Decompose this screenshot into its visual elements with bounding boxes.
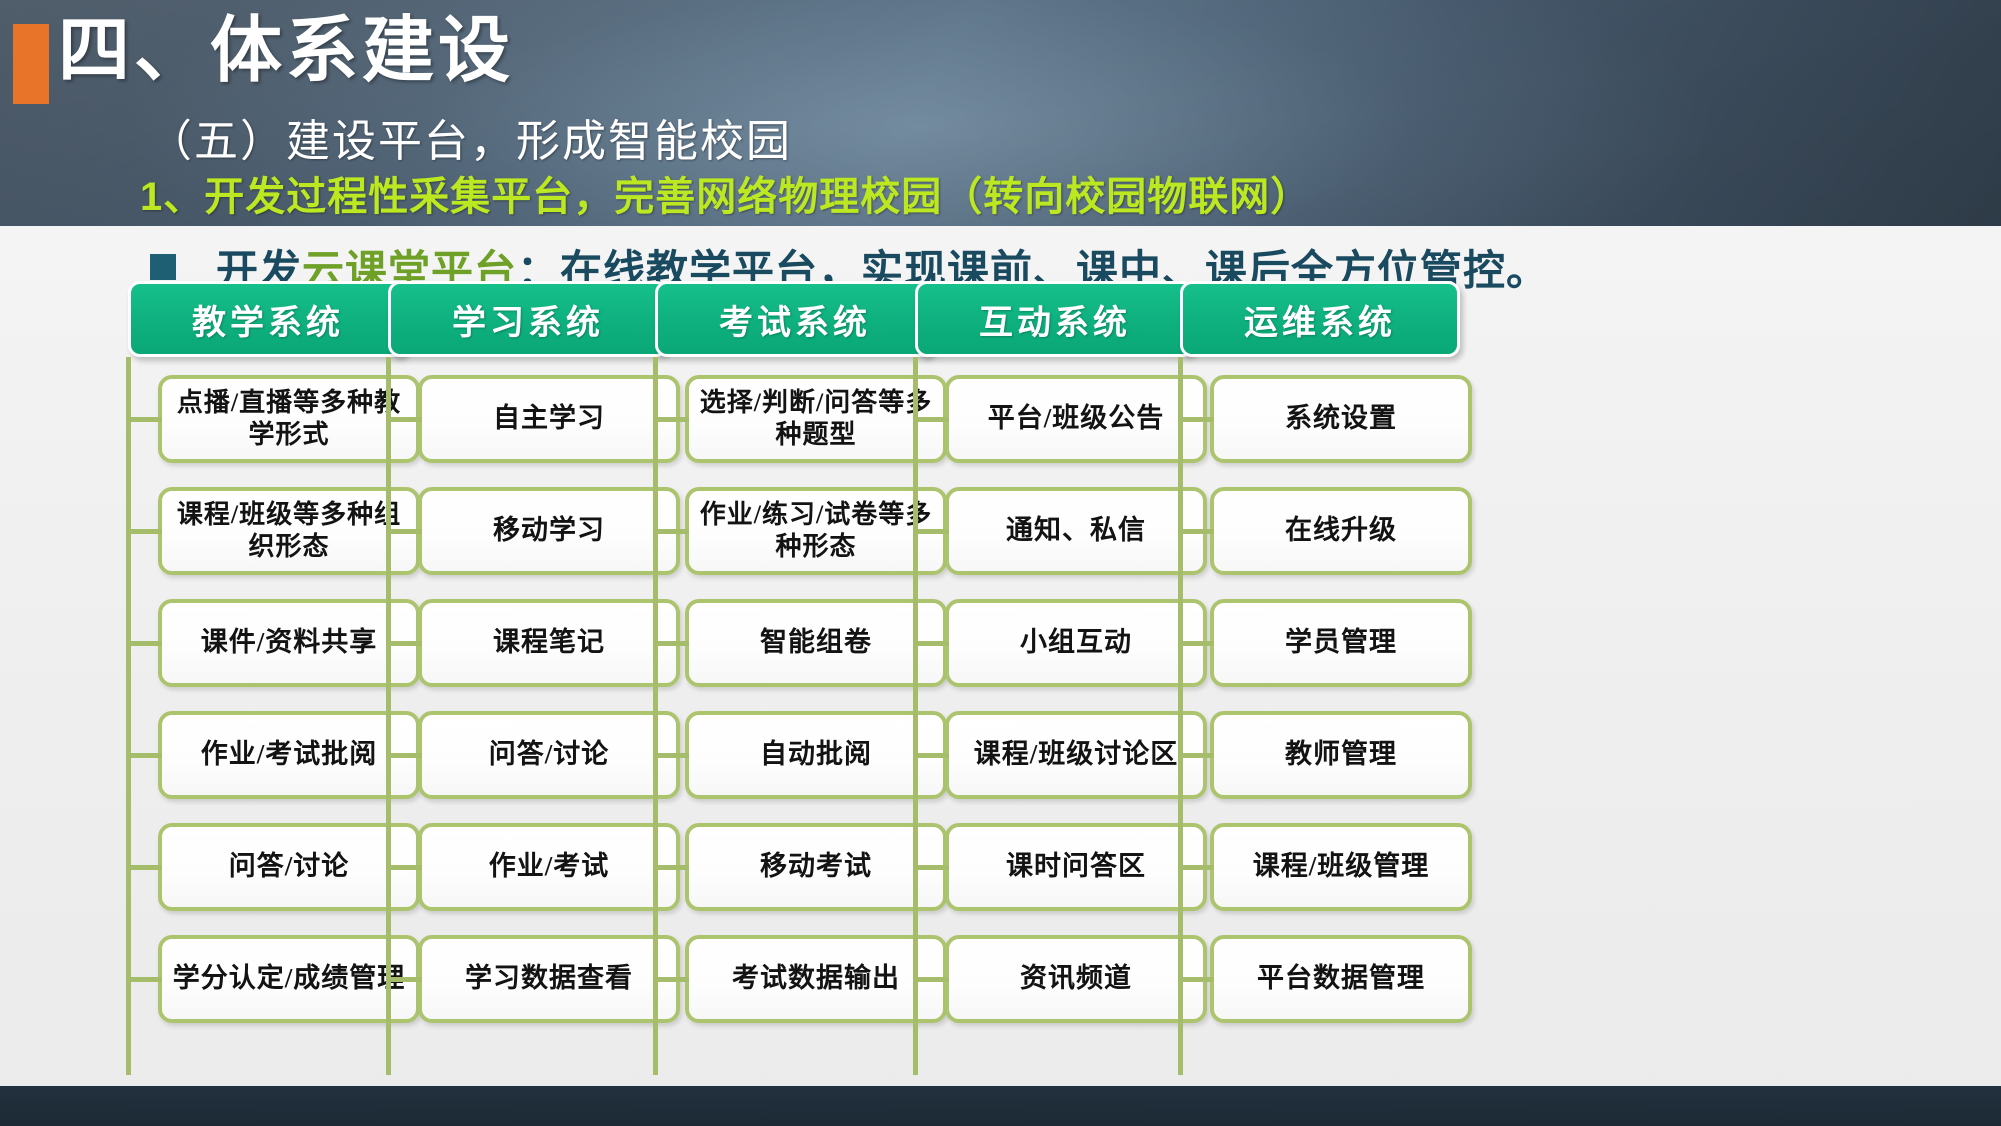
connector-trunk <box>1178 357 1183 1075</box>
column-interaction-system: 互动系统 平台/班级公告 通知、私信 小组互动 课程/班级讨论区 课时问答区 资… <box>905 281 1205 1047</box>
item-label: 作业/考试 <box>483 850 616 884</box>
list-item[interactable]: 小组互动 <box>945 599 1207 687</box>
list-item[interactable]: 教师管理 <box>1210 711 1472 799</box>
list-item[interactable]: 课程/班级讨论区 <box>945 711 1207 799</box>
item-label: 通知、私信 <box>1000 514 1152 548</box>
list-item[interactable]: 在线升级 <box>1210 487 1472 575</box>
item-label: 问答/讨论 <box>223 850 356 884</box>
item-label: 课程笔记 <box>487 626 611 660</box>
item-label: 自动批阅 <box>754 738 878 772</box>
page-point-line: 1、开发过程性采集平台，完善网络物理校园（转向校园物联网） <box>140 164 1311 222</box>
item-label: 移动学习 <box>487 514 611 548</box>
list-item[interactable]: 问答/讨论 <box>418 711 680 799</box>
item-label: 系统设置 <box>1279 402 1403 436</box>
item-label: 智能组卷 <box>754 626 878 660</box>
item-label: 小组互动 <box>1014 626 1138 660</box>
item-label: 作业/考试批阅 <box>195 738 384 772</box>
connector-trunk <box>386 357 391 1075</box>
item-label: 课件/资料共享 <box>195 626 384 660</box>
item-label: 在线升级 <box>1279 514 1403 548</box>
page-title: 四、体系建设 <box>58 15 514 87</box>
item-label: 学习数据查看 <box>459 962 639 996</box>
slide-header: 四、体系建设 （五）建设平台，形成智能校园 1、开发过程性采集平台，完善网络物理… <box>0 0 2001 226</box>
item-label: 平台/班级公告 <box>982 402 1171 436</box>
orange-accent-bar <box>13 24 49 104</box>
column-header-box[interactable]: 学习系统 <box>388 281 668 357</box>
list-item[interactable]: 平台/班级公告 <box>945 375 1207 463</box>
item-label: 课程/班级讨论区 <box>968 738 1185 772</box>
column-exam-system: 考试系统 选择/判断/问答等多种题型 作业/练习/试卷等多种形态 智能组卷 自动… <box>645 281 945 1047</box>
column-header-box[interactable]: 教学系统 <box>128 281 408 357</box>
square-bullet-icon <box>150 254 176 280</box>
column-learning-system: 学习系统 自主学习 移动学习 课程笔记 问答/讨论 作业/考试 学习数据查看 <box>378 281 678 1047</box>
item-label: 学分认定/成绩管理 <box>167 962 412 996</box>
item-label: 平台数据管理 <box>1251 962 1431 996</box>
list-item[interactable]: 平台数据管理 <box>1210 935 1472 1023</box>
list-item[interactable]: 通知、私信 <box>945 487 1207 575</box>
column-title: 互动系统 <box>979 295 1131 344</box>
column-items: 选择/判断/问答等多种题型 作业/练习/试卷等多种形态 智能组卷 自动批阅 移动… <box>645 375 945 1023</box>
item-label: 自主学习 <box>487 402 611 436</box>
slide-body: 开发云课堂平台：在线教学平台，实现课前、课中、课后全方位管控。 教学系统 点播/… <box>0 226 2001 1126</box>
connector-trunk <box>913 357 918 1075</box>
list-item[interactable]: 学习数据查看 <box>418 935 680 1023</box>
list-item[interactable]: 课时问答区 <box>945 823 1207 911</box>
column-items: 自主学习 移动学习 课程笔记 问答/讨论 作业/考试 学习数据查看 <box>378 375 678 1023</box>
column-title: 考试系统 <box>719 295 871 344</box>
list-item[interactable]: 课程/班级管理 <box>1210 823 1472 911</box>
list-item[interactable]: 资讯频道 <box>945 935 1207 1023</box>
column-teaching-system: 教学系统 点播/直播等多种教学形式 课程/班级等多种组织形态 课件/资料共享 作… <box>118 281 418 1047</box>
item-label: 课程/班级管理 <box>1247 850 1436 884</box>
page-subtitle: （五）建设平台，形成智能校园 <box>148 105 792 169</box>
column-title: 学习系统 <box>452 295 604 344</box>
column-header-box[interactable]: 运维系统 <box>1180 281 1460 357</box>
column-operations-system: 运维系统 系统设置 在线升级 学员管理 教师管理 课程/班级管理 平台数据管理 <box>1170 281 1470 1047</box>
list-item[interactable]: 系统设置 <box>1210 375 1472 463</box>
column-items: 系统设置 在线升级 学员管理 教师管理 课程/班级管理 平台数据管理 <box>1170 375 1470 1023</box>
system-columns: 教学系统 点播/直播等多种教学形式 课程/班级等多种组织形态 课件/资料共享 作… <box>0 281 2001 1121</box>
connector-trunk <box>126 357 131 1075</box>
column-header-box[interactable]: 考试系统 <box>655 281 935 357</box>
list-item[interactable]: 作业/考试 <box>418 823 680 911</box>
item-label: 教师管理 <box>1279 738 1403 772</box>
column-items: 平台/班级公告 通知、私信 小组互动 课程/班级讨论区 课时问答区 资讯频道 <box>905 375 1205 1023</box>
footer-strip <box>0 1086 2001 1126</box>
item-label: 课时问答区 <box>1000 850 1152 884</box>
item-label: 问答/讨论 <box>483 738 616 772</box>
list-item[interactable]: 学员管理 <box>1210 599 1472 687</box>
column-items: 点播/直播等多种教学形式 课程/班级等多种组织形态 课件/资料共享 作业/考试批… <box>118 375 418 1023</box>
item-label: 移动考试 <box>754 850 878 884</box>
column-title: 教学系统 <box>192 295 344 344</box>
column-title: 运维系统 <box>1244 295 1396 344</box>
list-item[interactable]: 移动学习 <box>418 487 680 575</box>
item-label: 资讯频道 <box>1014 962 1138 996</box>
list-item[interactable]: 自主学习 <box>418 375 680 463</box>
list-item[interactable]: 课程笔记 <box>418 599 680 687</box>
connector-trunk <box>653 357 658 1075</box>
item-label: 学员管理 <box>1279 626 1403 660</box>
column-header-box[interactable]: 互动系统 <box>915 281 1195 357</box>
item-label: 考试数据输出 <box>726 962 906 996</box>
